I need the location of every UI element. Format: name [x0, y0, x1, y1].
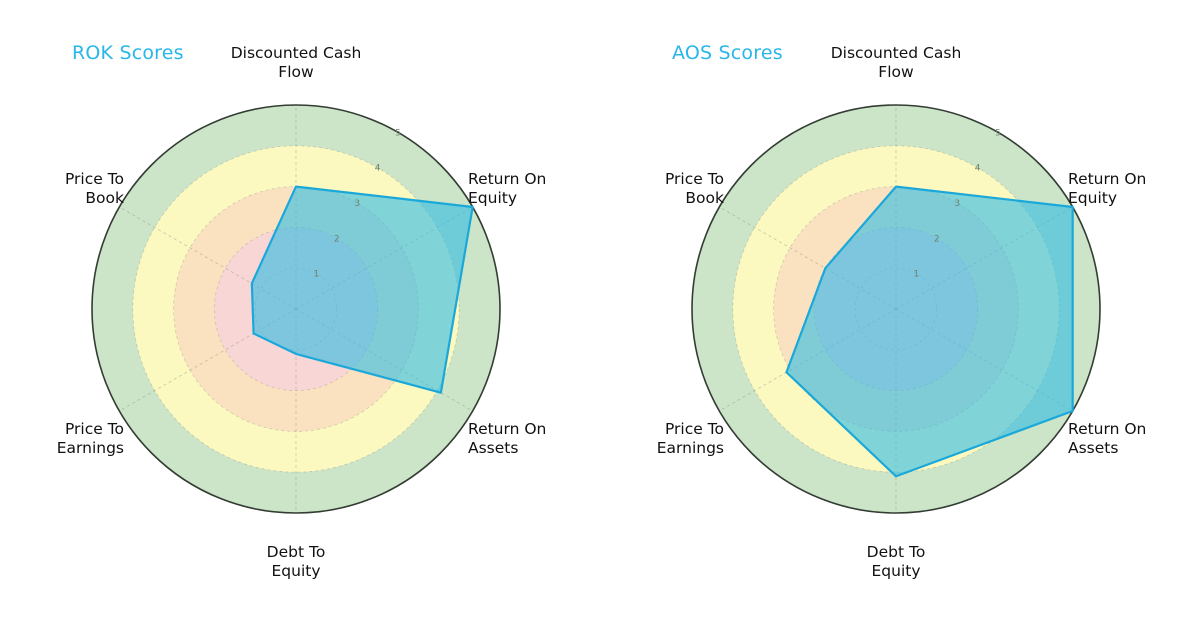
- radial-tick-label-3: 3: [954, 199, 960, 209]
- axis-label-debt-to-equity-aos: Debt To Equity: [826, 543, 966, 582]
- radial-tick-label-1: 1: [314, 270, 320, 280]
- radial-tick-label-2: 2: [334, 234, 340, 244]
- axis-label-debt-to-equity-rok: Debt To Equity: [226, 543, 366, 582]
- radial-tick-label-4: 4: [375, 164, 381, 174]
- axis-label-return-on-assets-rok: Return On Assets: [468, 420, 578, 459]
- radial-tick-label-4: 4: [975, 164, 981, 174]
- radial-tick-label-5: 5: [995, 128, 1001, 138]
- axis-label-price-to-earnings-aos: Price To Earnings: [614, 420, 724, 459]
- radial-tick-label-5: 5: [395, 128, 401, 138]
- axis-label-price-to-book-rok: Price To Book: [14, 170, 124, 209]
- radial-tick-label-2: 2: [934, 234, 940, 244]
- axis-label-return-on-assets-aos: Return On Assets: [1068, 420, 1178, 459]
- axis-label-return-on-equity-rok: Return On Equity: [468, 170, 578, 209]
- axis-label-price-to-book-aos: Price To Book: [614, 170, 724, 209]
- radar-figure: ROK Scores 12345 Discounted Cash Flow Re…: [0, 0, 1200, 625]
- axis-label-price-to-earnings-rok: Price To Earnings: [14, 420, 124, 459]
- axis-label-discounted-cash-flow-rok: Discounted Cash Flow: [226, 44, 366, 83]
- radar-chart-aos: 12345: [600, 0, 1200, 625]
- radar-chart-rok: 12345: [0, 0, 600, 625]
- radial-tick-label-3: 3: [354, 199, 360, 209]
- radial-tick-label-1: 1: [914, 270, 920, 280]
- axis-label-return-on-equity-aos: Return On Equity: [1068, 170, 1178, 209]
- axis-label-discounted-cash-flow-aos: Discounted Cash Flow: [826, 44, 966, 83]
- panel-aos: AOS Scores 12345 Discounted Cash Flow Re…: [600, 0, 1200, 625]
- panel-rok: ROK Scores 12345 Discounted Cash Flow Re…: [0, 0, 600, 625]
